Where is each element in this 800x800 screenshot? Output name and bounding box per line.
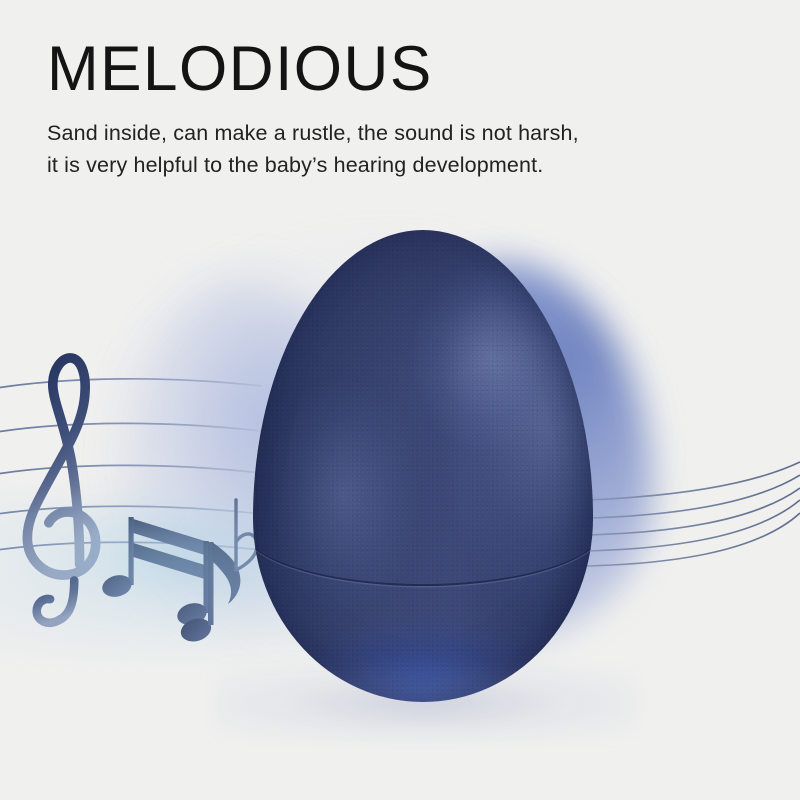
product-image-stage: [0, 170, 800, 800]
product-feature-poster: MELODIOUS Sand inside, can make a rustle…: [0, 0, 800, 800]
egg-contact-shadow: [215, 668, 635, 738]
egg-shaker-product[interactable]: [253, 230, 593, 702]
egg-body: [253, 230, 593, 702]
egg-crown-shading: [253, 230, 593, 702]
egg-seam-line: [255, 518, 591, 596]
description-line-1: Sand inside, can make a rustle, the soun…: [47, 117, 579, 149]
staff-lines-right: [586, 462, 800, 566]
page-title: MELODIOUS: [47, 36, 433, 103]
